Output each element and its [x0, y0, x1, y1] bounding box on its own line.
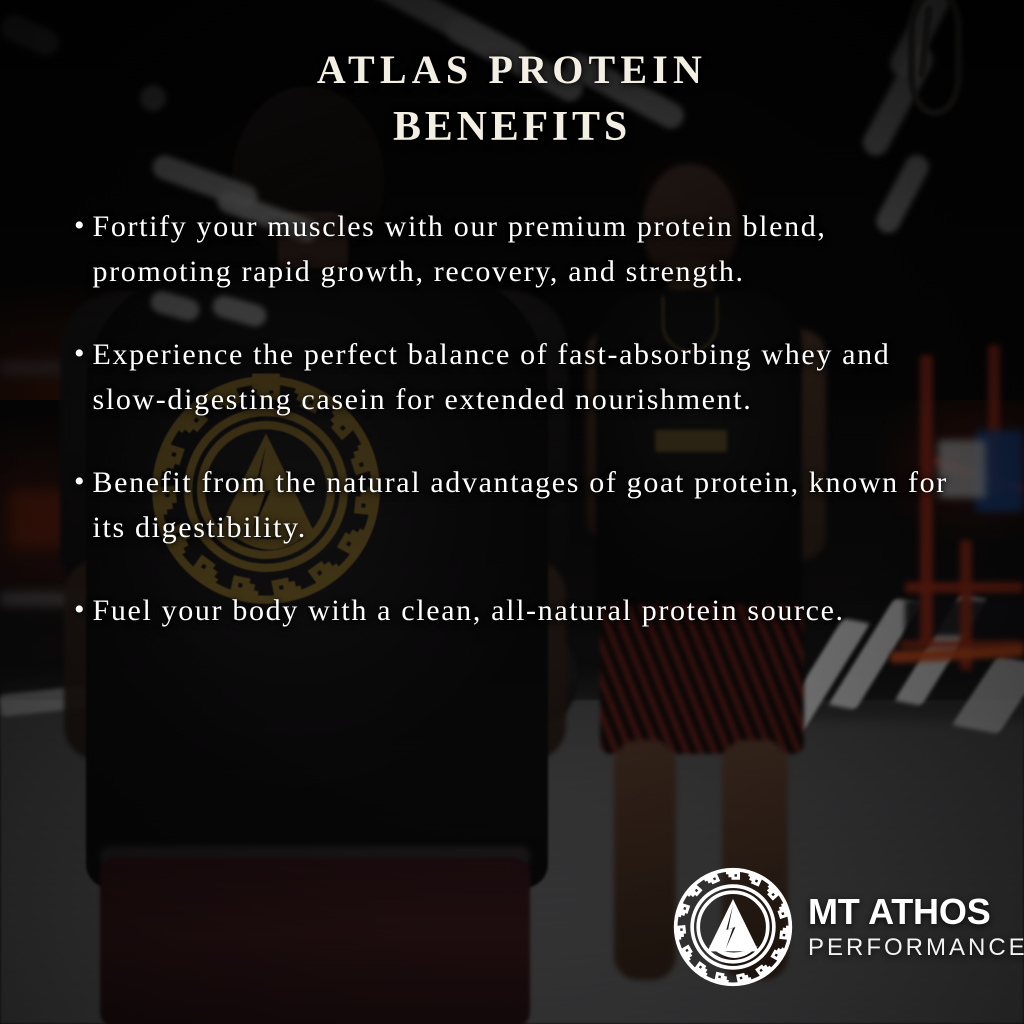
poster-canvas: ATLAS PROTEIN BENEFITS • Fortify your mu…: [0, 0, 1024, 1024]
list-item-text: Fortify your muscles with our premium pr…: [93, 204, 973, 294]
poster-content: ATLAS PROTEIN BENEFITS • Fortify your mu…: [0, 0, 1024, 1024]
list-item: • Experience the perfect balance of fast…: [74, 332, 974, 422]
list-item-text: Benefit from the natural advantages of g…: [93, 460, 973, 550]
page-title: ATLAS PROTEIN BENEFITS: [0, 46, 1024, 154]
greek-key-mountain-logo-icon: [672, 866, 794, 988]
brand-subtitle: PERFORMANCE: [808, 936, 1024, 960]
brand-name: MT ATHOS: [808, 894, 1024, 930]
bullet-dot-icon: •: [74, 204, 85, 248]
brand-wordmark: MT ATHOS PERFORMANCE: [808, 894, 1024, 960]
list-item-text: Fuel your body with a clean, all-natural…: [93, 588, 845, 633]
list-item: • Benefit from the natural advantages of…: [74, 460, 974, 550]
benefits-list: • Fortify your muscles with our premium …: [74, 204, 974, 633]
bullet-dot-icon: •: [74, 460, 85, 504]
list-item: • Fortify your muscles with our premium …: [74, 204, 974, 294]
title-line-primary: ATLAS PROTEIN: [0, 46, 1024, 94]
bullet-dot-icon: •: [74, 332, 85, 376]
bullet-dot-icon: •: [74, 588, 85, 632]
title-line-secondary: BENEFITS: [0, 100, 1024, 154]
list-item-text: Experience the perfect balance of fast-a…: [93, 332, 973, 422]
list-item: • Fuel your body with a clean, all-natur…: [74, 588, 974, 633]
brand-lockup: MT ATHOS PERFORMANCE: [672, 866, 1024, 988]
